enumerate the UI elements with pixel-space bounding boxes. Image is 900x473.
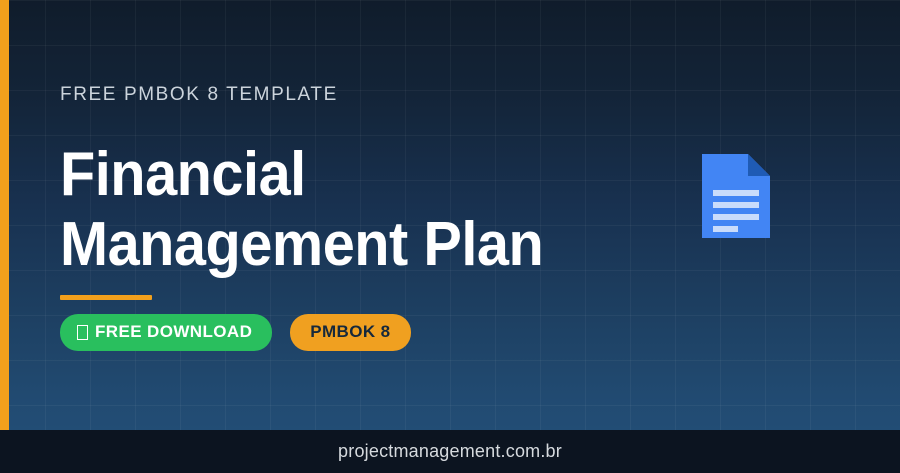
pmbok-8-badge-label: PMBOK 8 xyxy=(310,322,390,342)
eyebrow-label: FREE PMBOK 8 TEMPLATE xyxy=(60,84,338,106)
download-box-icon xyxy=(77,325,88,340)
badge-group: FREE DOWNLOAD PMBOK 8 xyxy=(60,314,411,351)
pmbok-8-badge[interactable]: PMBOK 8 xyxy=(290,314,410,351)
footer-bar: projectmanagement.com.br xyxy=(0,430,900,473)
banner-content: FREE PMBOK 8 TEMPLATE Financial Manageme… xyxy=(60,0,680,430)
free-download-badge[interactable]: FREE DOWNLOAD xyxy=(60,314,272,351)
footer-website-url: projectmanagement.com.br xyxy=(338,441,562,462)
title-divider xyxy=(60,295,152,300)
document-file-icon xyxy=(702,154,770,238)
free-download-badge-label: FREE DOWNLOAD xyxy=(95,322,252,342)
left-accent-bar xyxy=(0,0,9,430)
banner-card: FREE PMBOK 8 TEMPLATE Financial Manageme… xyxy=(0,0,900,473)
page-title: Financial Management Plan xyxy=(60,140,618,280)
